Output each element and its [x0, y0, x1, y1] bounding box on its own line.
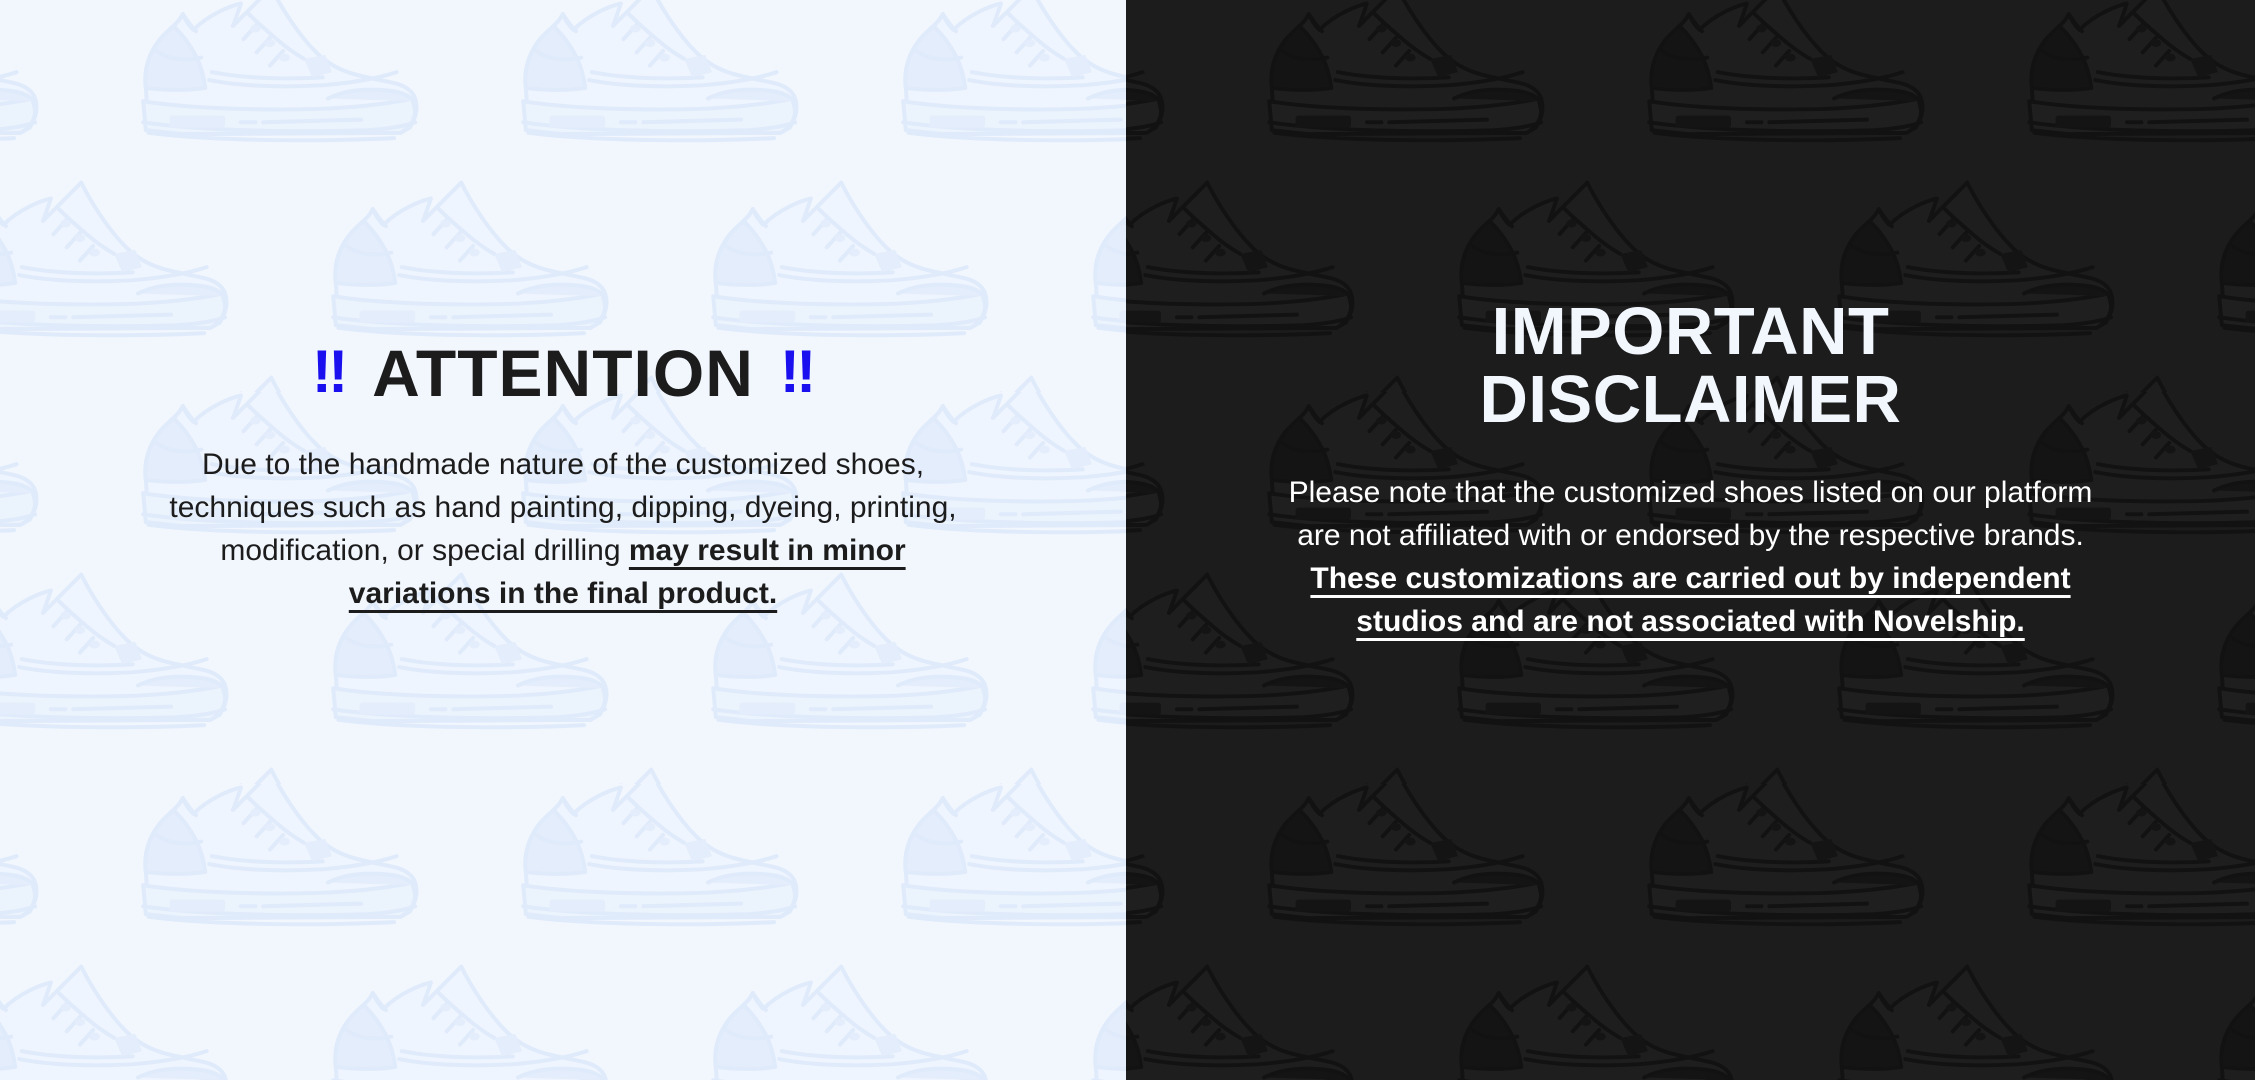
- disclaimer-body-normal: Please note that the customized shoes li…: [1289, 476, 2093, 552]
- double-exclamation-icon-right: ‼: [780, 342, 814, 402]
- disclaimer-heading: IMPORTANT DISCLAIMER: [1480, 298, 1902, 435]
- attention-content: ‼ ATTENTION ‼ Due to the handmade nature…: [0, 0, 1126, 615]
- disclaimer-panel: IMPORTANT DISCLAIMER Please note that th…: [1126, 0, 2255, 1080]
- double-exclamation-icon-left: ‼: [312, 342, 346, 402]
- disclaimer-heading-line1: IMPORTANT: [1492, 294, 1890, 369]
- attention-heading-text: ATTENTION: [372, 340, 754, 407]
- disclaimer-body-emphasis: These customizations are carried out by …: [1310, 562, 2070, 638]
- attention-body: Due to the handmade nature of the custom…: [168, 443, 958, 615]
- disclaimer-content: IMPORTANT DISCLAIMER Please note that th…: [1126, 0, 2255, 643]
- disclaimer-body: Please note that the customized shoes li…: [1286, 471, 2096, 643]
- disclaimer-heading-line2: DISCLAIMER: [1480, 362, 1902, 437]
- attention-panel: ‼ ATTENTION ‼ Due to the handmade nature…: [0, 0, 1126, 1080]
- attention-heading: ‼ ATTENTION ‼: [312, 340, 814, 407]
